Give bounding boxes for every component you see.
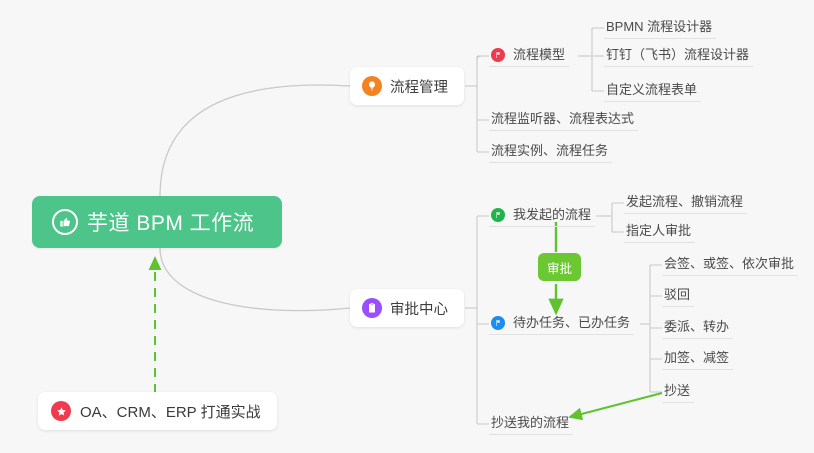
lightbulb-icon — [362, 76, 382, 96]
branch-node-process-management[interactable]: 流程管理 — [350, 67, 464, 105]
node-my-processes[interactable]: 我发起的流程 — [489, 202, 595, 227]
node-custom-form[interactable]: 自定义流程表单 — [604, 77, 701, 102]
root-node[interactable]: 芋道 BPM 工作流 — [32, 196, 282, 248]
node-dingtalk-feishu-designer[interactable]: 钉钉（飞书）流程设计器 — [604, 42, 753, 67]
branch-label-approval-center: 审批中心 — [390, 298, 448, 319]
clipboard-icon — [362, 298, 382, 318]
node-cc-my-processes[interactable]: 抄送我的流程 — [489, 410, 573, 435]
branch-label-process-management: 流程管理 — [390, 76, 448, 97]
node-label-process-model: 流程模型 — [513, 47, 565, 62]
node-cc[interactable]: 抄送 — [662, 378, 694, 403]
node-process-model[interactable]: 流程模型 — [489, 42, 569, 67]
node-label-todo-done-tasks: 待办任务、已办任务 — [513, 315, 630, 330]
node-label-cc: 抄送 — [664, 383, 690, 398]
node-label-delegate-transfer: 委派、转办 — [664, 319, 729, 334]
node-label-my-processes: 我发起的流程 — [513, 207, 591, 222]
node-label-cc-my-processes: 抄送我的流程 — [491, 415, 569, 430]
node-label-instance-task: 流程实例、流程任务 — [491, 143, 608, 158]
node-bpmn-designer[interactable]: BPMN 流程设计器 — [604, 14, 716, 39]
node-label-custom-form: 自定义流程表单 — [606, 82, 697, 97]
node-label-start-cancel-process: 发起流程、撤销流程 — [626, 194, 743, 209]
approval-tag-badge[interactable]: 审批 — [538, 253, 581, 281]
approval-tag-label: 审批 — [547, 258, 572, 277]
node-reject[interactable]: 驳回 — [662, 282, 694, 307]
footer-note-node[interactable]: OA、CRM、ERP 打通实战 — [38, 392, 277, 430]
node-instance-task[interactable]: 流程实例、流程任务 — [489, 138, 612, 163]
flag-icon — [491, 48, 505, 62]
node-delegate-transfer[interactable]: 委派、转办 — [662, 314, 733, 339]
thumbs-up-icon — [52, 209, 78, 235]
node-add-remove-sign[interactable]: 加签、减签 — [662, 345, 733, 370]
flag-icon — [491, 208, 505, 222]
node-label-reject: 驳回 — [664, 287, 690, 302]
node-assignee-approval[interactable]: 指定人审批 — [624, 218, 695, 243]
node-label-assignee-approval: 指定人审批 — [626, 223, 691, 238]
footer-note-label: OA、CRM、ERP 打通实战 — [80, 401, 261, 422]
node-todo-done-tasks[interactable]: 待办任务、已办任务 — [489, 310, 634, 335]
node-label-dingtalk-feishu-designer: 钉钉（飞书）流程设计器 — [606, 47, 749, 62]
node-label-multi-sign: 会签、或签、依次审批 — [664, 256, 794, 271]
node-label-add-remove-sign: 加签、减签 — [664, 350, 729, 365]
node-listener-expression[interactable]: 流程监听器、流程表达式 — [489, 106, 638, 131]
star-icon — [51, 401, 71, 421]
node-start-cancel-process[interactable]: 发起流程、撤销流程 — [624, 189, 747, 214]
root-label: 芋道 BPM 工作流 — [87, 207, 254, 237]
node-label-listener-expression: 流程监听器、流程表达式 — [491, 111, 634, 126]
mindmap-canvas: 芋道 BPM 工作流 流程管理 审批中心 流程模型 BPMN 流程设计器 钉 — [0, 0, 814, 453]
flag-icon — [491, 316, 505, 330]
node-label-bpmn-designer: BPMN 流程设计器 — [606, 19, 712, 34]
node-multi-sign[interactable]: 会签、或签、依次审批 — [662, 251, 798, 276]
branch-node-approval-center[interactable]: 审批中心 — [350, 289, 464, 327]
